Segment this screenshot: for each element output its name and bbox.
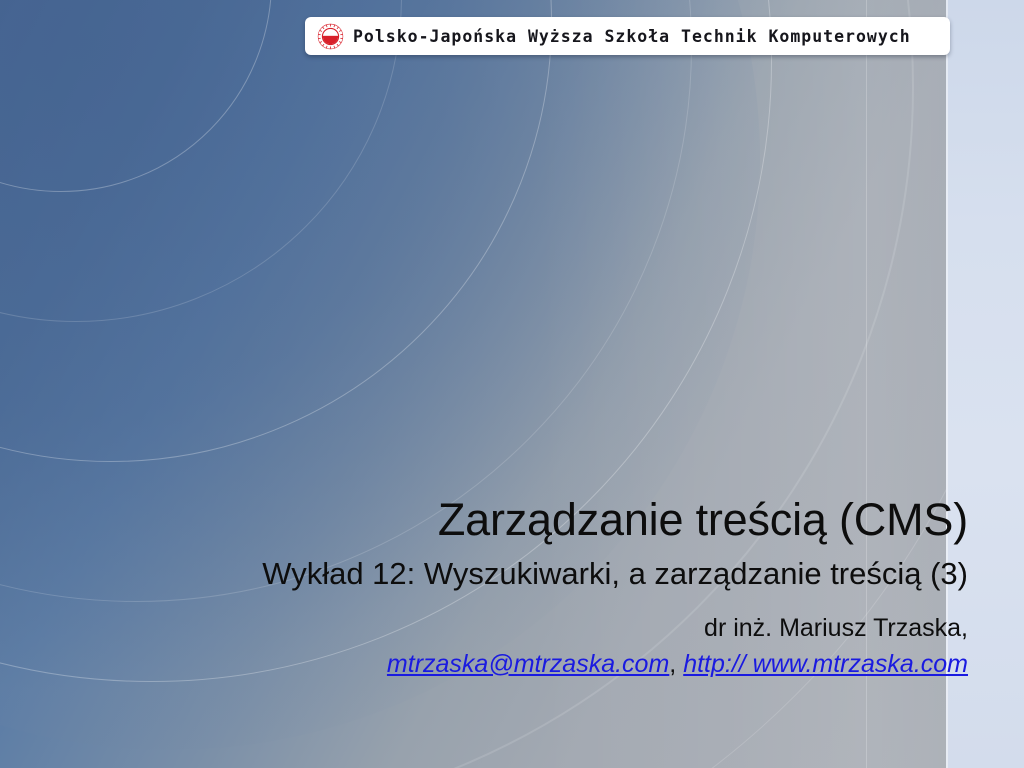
contact-links: mtrzaska@mtrzaska.com, http:// www.mtrza… <box>100 646 968 682</box>
pjwstk-crest-icon <box>317 23 344 50</box>
slide-subtitle: Wykład 12: Wyszukiwarki, a zarządzanie t… <box>100 552 968 596</box>
institution-banner: Polsko-Japońska Wyższa Szkoła Technik Ko… <box>305 17 950 55</box>
presentation-slide: Polsko-Japońska Wyższa Szkoła Technik Ko… <box>0 0 1024 768</box>
slide-title: Zarządzanie treścią (CMS) <box>100 492 968 548</box>
author-name: dr inż. Mariusz Trzaska, <box>100 610 968 646</box>
link-separator: , <box>669 650 683 678</box>
title-block: Zarządzanie treścią (CMS) Wykład 12: Wys… <box>100 492 968 682</box>
institution-name: Polsko-Japońska Wyższa Szkoła Technik Ko… <box>353 27 911 46</box>
email-link[interactable]: mtrzaska@mtrzaska.com <box>387 650 669 678</box>
website-link[interactable]: http:// www.mtrzaska.com <box>683 650 968 678</box>
